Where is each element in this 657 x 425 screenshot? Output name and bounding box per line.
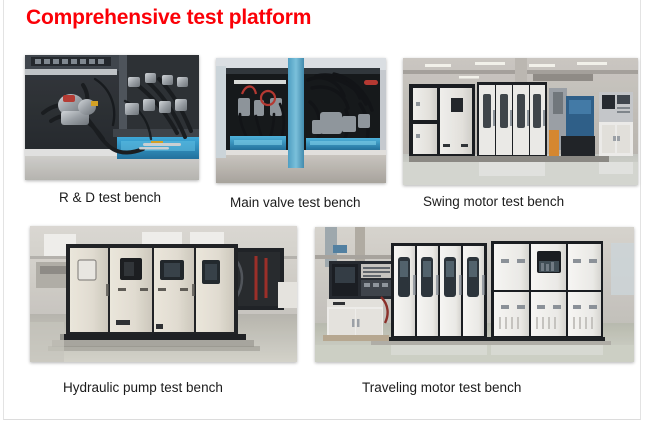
page-title: Comprehensive test platform [26,6,311,30]
traveling-motor-test-bench-photo [315,227,634,362]
rd-test-bench-photo [25,55,199,180]
hydraulic-pump-test-bench-photo [30,226,297,362]
caption-traveling-motor-test-bench: Traveling motor test bench [362,380,521,395]
caption-rd-test-bench: R & D test bench [59,190,161,205]
slide-frame: Comprehensive test platform [3,0,641,420]
hydraulic-pump-test-bench-illustration [30,226,297,362]
traveling-motor-test-bench-illustration [315,227,634,362]
caption-main-valve-test-bench: Main valve test bench [230,195,361,210]
swing-motor-test-bench-photo [403,58,638,185]
swing-motor-test-bench-illustration [403,58,638,185]
main-valve-test-bench-illustration [216,58,386,183]
main-valve-test-bench-photo [216,58,386,183]
caption-swing-motor-test-bench: Swing motor test bench [423,194,564,209]
caption-hydraulic-pump-test-bench: Hydraulic pump test bench [63,380,223,395]
rd-test-bench-illustration [25,55,199,180]
